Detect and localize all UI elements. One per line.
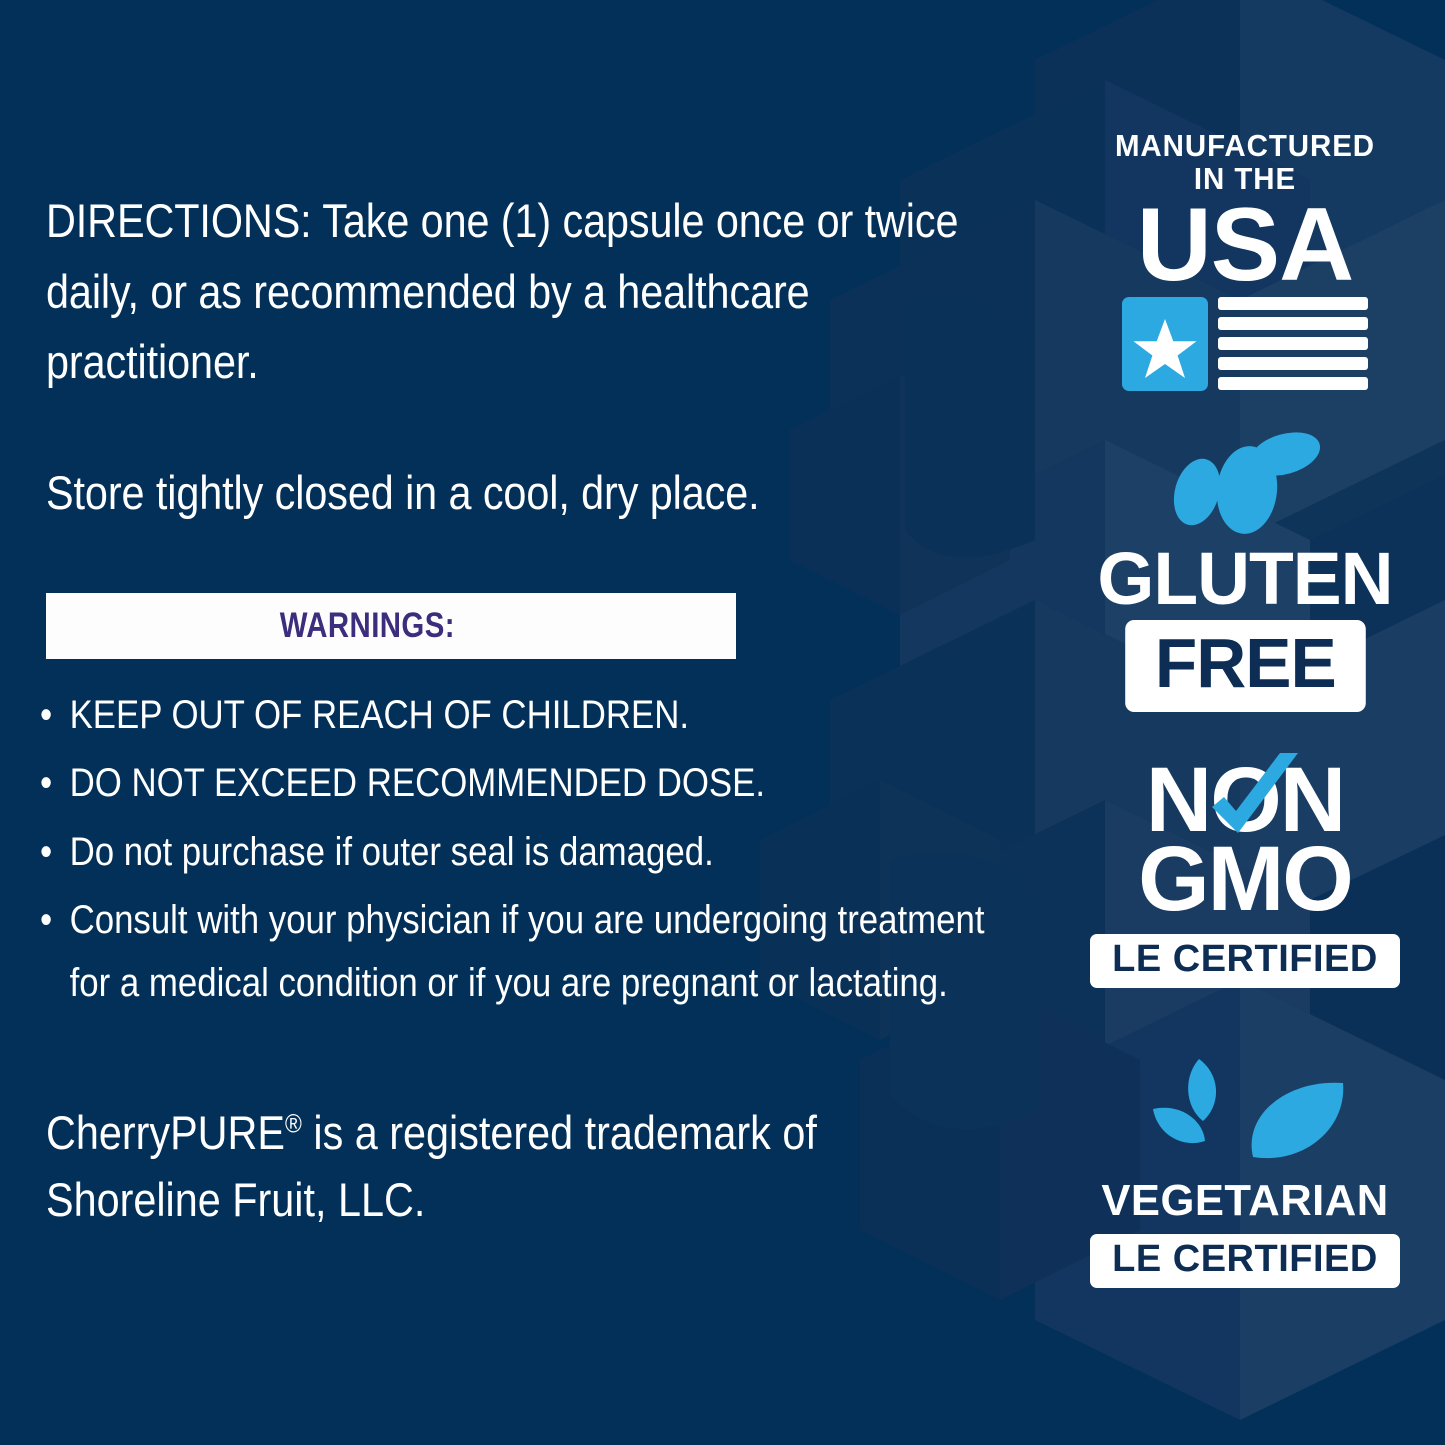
trademark-note: CherryPURE® is a registered trademark of… <box>46 1100 908 1233</box>
badge-vegetarian: VEGETARIAN LE CERTIFIED <box>1045 1053 1445 1288</box>
storage-paragraph: Store tightly closed in a cool, dry plac… <box>46 458 991 529</box>
trademark-brand: CherryPURE <box>46 1106 285 1159</box>
vegetarian-chip: LE CERTIFIED <box>1090 1234 1400 1288</box>
directions-copy-block: DIRECTIONS: Take one (1) capsule once or… <box>46 186 996 528</box>
warning-item: •Do not purchase if outer seal is damage… <box>40 821 1022 883</box>
usa-badge-line1: MANUFACTURED <box>1055 130 1435 162</box>
bullet-icon: • <box>40 889 70 951</box>
directions-paragraph: DIRECTIONS: Take one (1) capsule once or… <box>46 186 991 398</box>
warning-item-text: KEEP OUT OF REACH OF CHILDREN. <box>70 693 689 737</box>
grain-leaves-icon <box>1045 432 1445 536</box>
badge-non-gmo: NON GMO LE CERTIFIED <box>1045 757 1445 988</box>
trademark-line1-tail: is a registered trademark of <box>302 1106 817 1159</box>
check-mark-icon <box>1194 751 1314 855</box>
vegetarian-word: VEGETARIAN <box>1047 1179 1443 1223</box>
warnings-title: WARNINGS: <box>279 606 454 646</box>
bullet-icon: • <box>40 684 70 746</box>
usa-badge-word: USA <box>1045 198 1445 294</box>
warnings-list: •KEEP OUT OF REACH OF CHILDREN. •DO NOT … <box>40 684 1000 1020</box>
bullet-icon: • <box>40 752 70 814</box>
certification-badge-column: MANUFACTURED IN THE USA <box>1045 0 1445 1445</box>
warning-item-text: Consult with your physician if you are u… <box>70 898 985 1004</box>
warnings-banner: WARNINGS: <box>46 593 736 659</box>
sprout-leaves-icon <box>1045 1053 1445 1173</box>
warning-item: •DO NOT EXCEED RECOMMENDED DOSE. <box>40 752 1022 814</box>
warning-item: •Consult with your physician if you are … <box>40 889 1022 1014</box>
non-gmo-chip: LE CERTIFIED <box>1090 934 1400 988</box>
badge-gluten-free: GLUTEN FREE <box>1045 432 1445 712</box>
bullet-icon: • <box>40 821 70 883</box>
trademark-line2: Shoreline Fruit, LLC. <box>46 1173 425 1226</box>
supplement-label-panel: DIRECTIONS: Take one (1) capsule once or… <box>0 0 1445 1445</box>
usa-flag-icon <box>1045 297 1445 391</box>
gluten-free-chip: FREE <box>1125 620 1365 712</box>
warning-item-text: Do not purchase if outer seal is damaged… <box>70 830 714 874</box>
badge-manufactured-in-usa: MANUFACTURED IN THE USA <box>1045 130 1445 391</box>
warning-item-text: DO NOT EXCEED RECOMMENDED DOSE. <box>70 761 765 805</box>
registered-trademark-icon: ® <box>285 1108 302 1138</box>
gluten-free-word: GLUTEN <box>1047 542 1443 616</box>
warning-item: •KEEP OUT OF REACH OF CHILDREN. <box>40 684 1022 746</box>
